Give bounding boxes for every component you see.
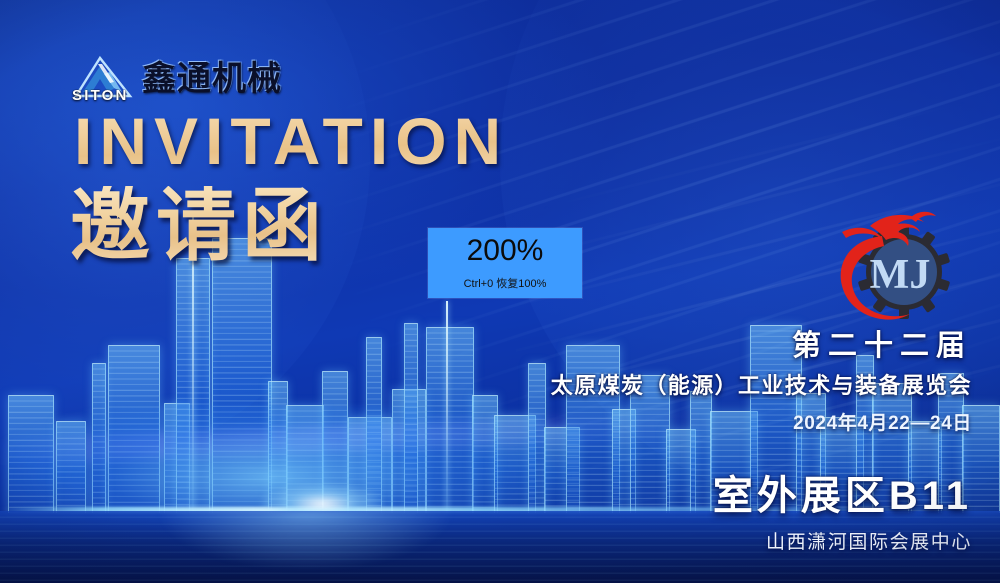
event-name: 太原煤炭（能源）工业技术与装备展览会 (452, 368, 972, 400)
event-edition: 第二十二届 (452, 330, 972, 363)
event-info-block: 第二十二届 太原煤炭（能源）工业技术与装备展览会 2024年4月22—24日 室… (452, 330, 972, 554)
venue-name: 山西潇河国际会展中心 (452, 527, 972, 554)
booth-number: 室外展区B11 (452, 463, 972, 521)
invitation-poster: SITON 鑫通机械 INVITATION 邀请函 (0, 0, 1000, 583)
headline-invitation: INVITATION (74, 108, 508, 174)
center-light-flare (232, 473, 412, 535)
expo-emblem: MJ (812, 196, 972, 336)
zoom-level-overlay: 200% Ctrl+0 恢复100% (428, 228, 582, 298)
siton-mountain-mark: SITON (70, 52, 136, 102)
zoom-percent-label: 200% (467, 236, 544, 266)
siton-logo: SITON 鑫通机械 (70, 52, 282, 102)
headline-yaoqinghan: 邀请函 (70, 186, 328, 266)
siton-wordmark: SITON (72, 87, 129, 104)
siton-chinese-name: 鑫通机械 (142, 58, 282, 96)
zoom-reset-hint: Ctrl+0 恢复100% (464, 275, 547, 291)
event-date: 2024年4月22—24日 (452, 408, 972, 435)
emblem-letters: MJ (870, 252, 931, 298)
